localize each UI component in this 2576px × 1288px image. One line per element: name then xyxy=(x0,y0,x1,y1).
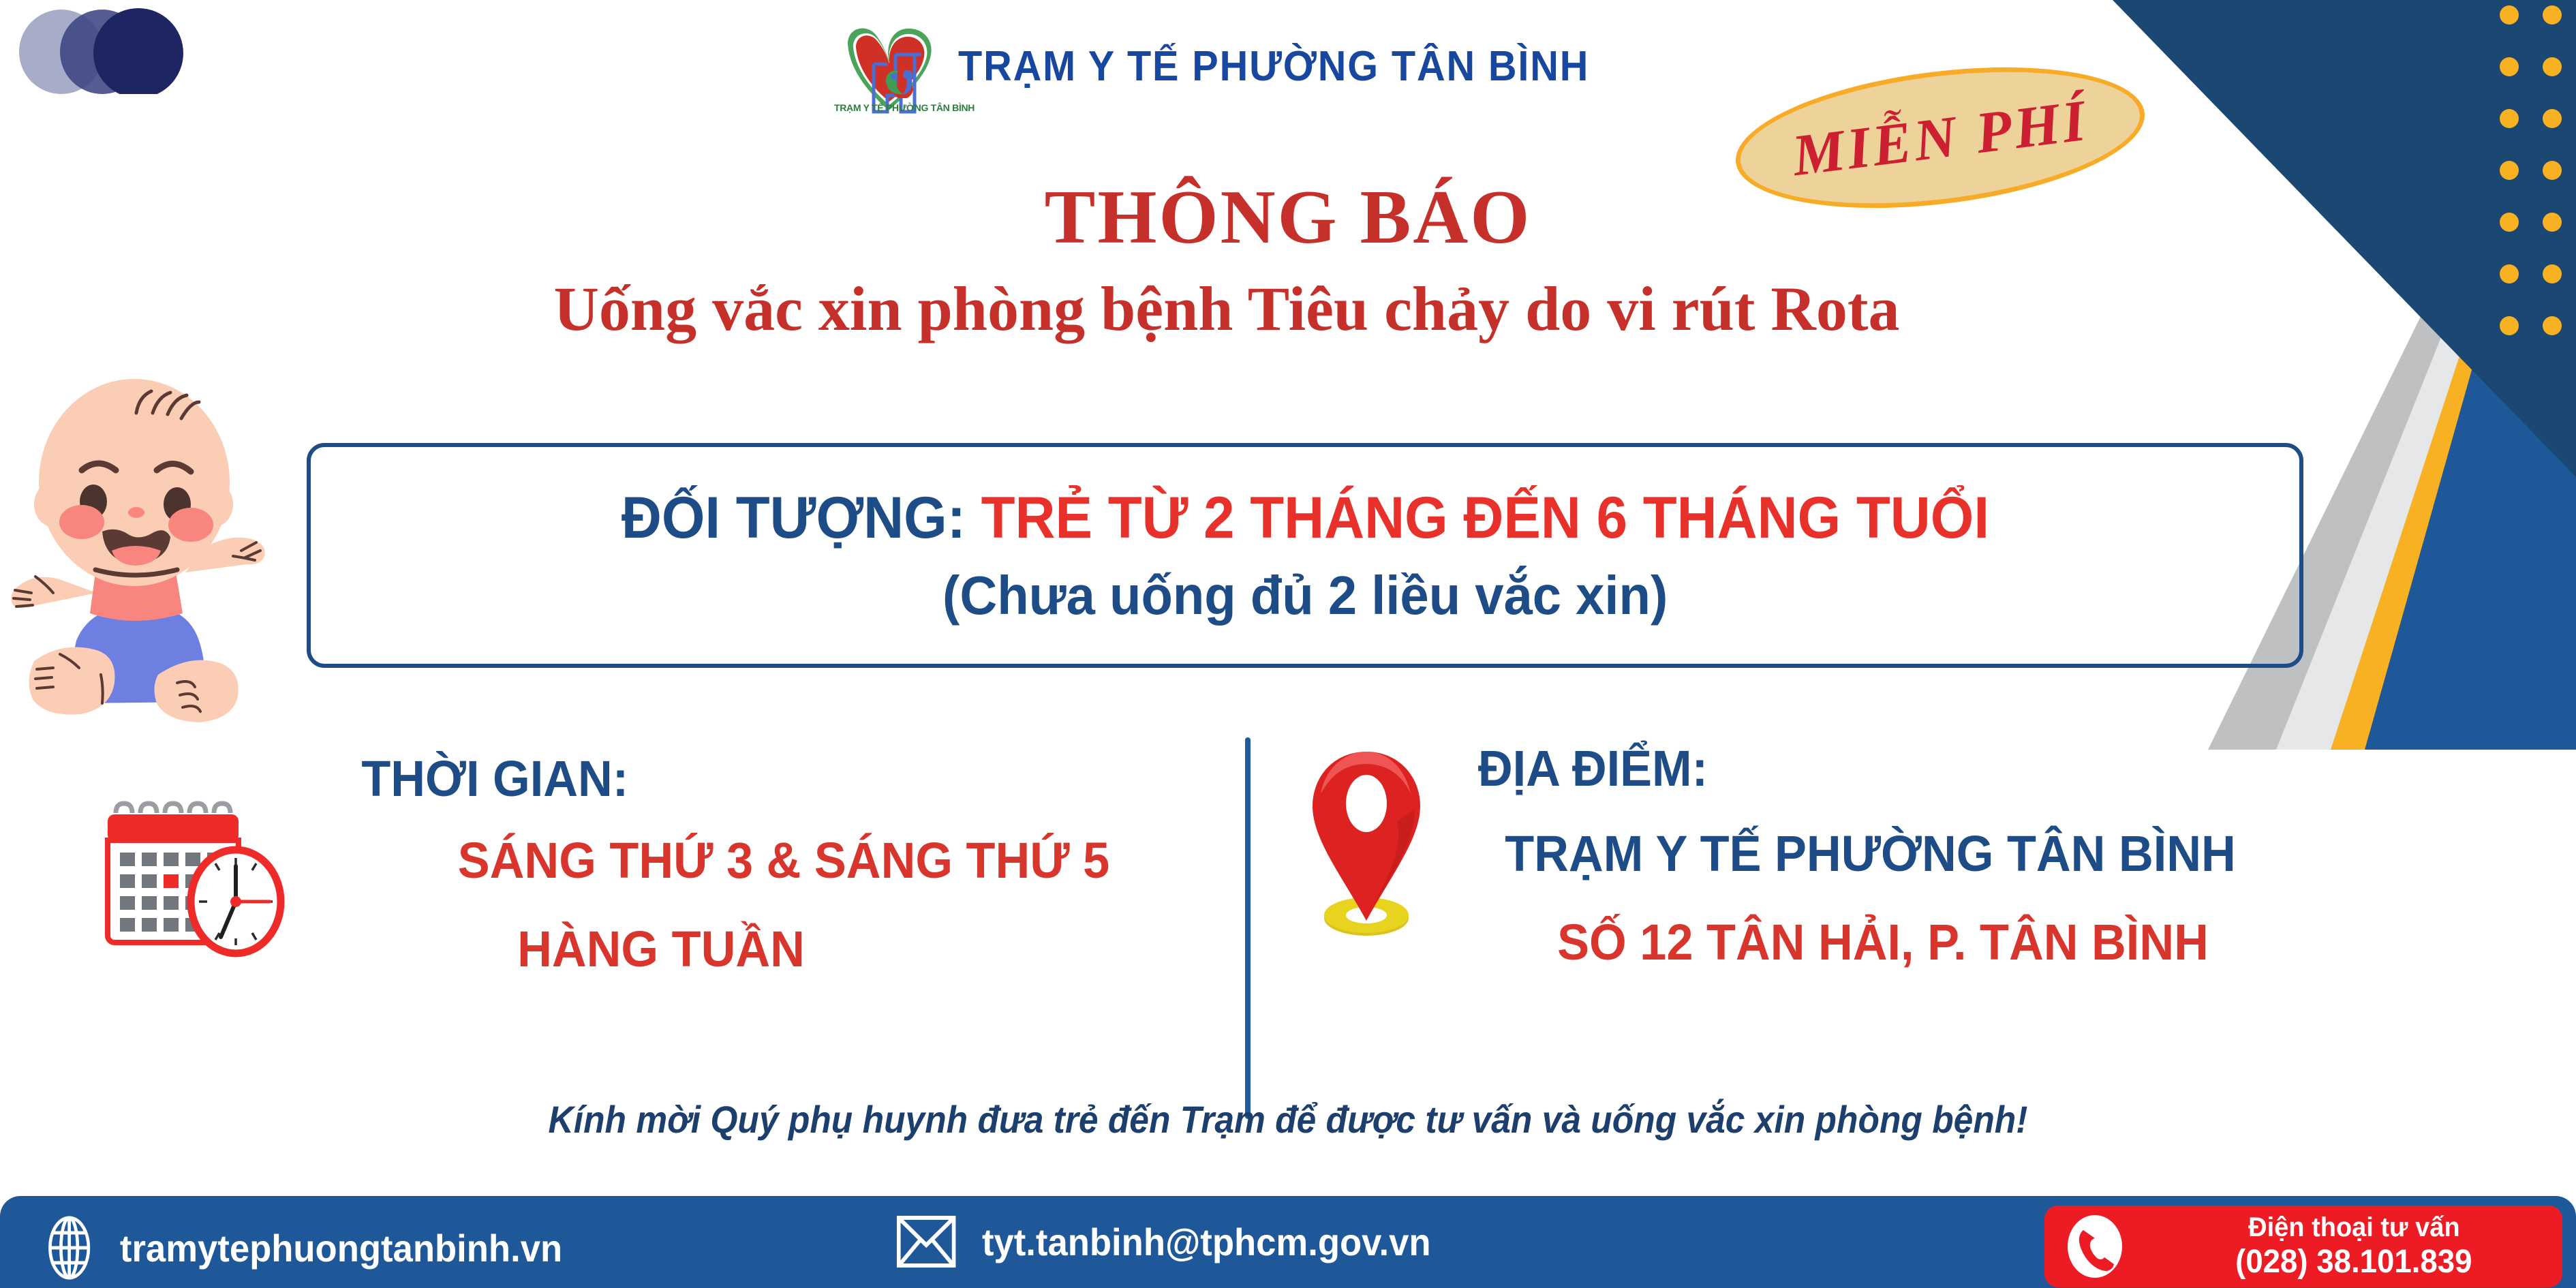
invitation-text: Kính mời Quý phụ huynh đưa trẻ đến Trạm … xyxy=(103,1097,2473,1141)
target-label: ĐỐI TƯỢNG: xyxy=(621,485,965,551)
target-value: TRẺ TỪ 2 THÁNG ĐẾN 6 THÁNG TUỔI xyxy=(981,485,1989,551)
column-divider xyxy=(1245,737,1251,1119)
time-value-line1: SÁNG THỨ 3 & SÁNG THỨ 5 xyxy=(376,831,1192,889)
overlapping-circles xyxy=(7,5,198,94)
target-audience-box: ĐỐI TƯỢNG: TRẺ TỪ 2 THÁNG ĐẾN 6 THÁNG TU… xyxy=(307,443,2303,668)
page-title: THÔNG BÁO xyxy=(0,174,2576,262)
footer-email[interactable]: tyt.tanbinh@tphcm.gov.vn xyxy=(896,1215,1431,1268)
phone-handset-icon xyxy=(2065,1212,2126,1281)
sitting-baby-illustration xyxy=(0,368,281,750)
health-station-heart-logo: TRẠM Y TẾ PHƯỜNG TÂN BÌNH xyxy=(838,15,940,117)
website-text: tramytephuongtanbinh.vn xyxy=(120,1226,562,1270)
logo-caption: TRẠM Y TẾ PHƯỜNG TÂN BÌNH xyxy=(834,102,950,113)
place-label: ĐỊA ĐIỂM: xyxy=(1478,739,1708,797)
target-line: ĐỐI TƯỢNG: TRẺ TỪ 2 THÁNG ĐẾN 6 THÁNG TU… xyxy=(621,485,1989,552)
time-value-line2: HÀNG TUẦN xyxy=(370,920,953,978)
calendar-clock-icon xyxy=(95,801,293,957)
footer-bar: tramytephuongtanbinh.vn tyt.tanbinh@tphc… xyxy=(0,1196,2576,1288)
footer-website[interactable]: tramytephuongtanbinh.vn xyxy=(44,1215,562,1281)
organization-name: TRẠM Y TẾ PHƯỜNG TÂN BÌNH xyxy=(958,42,1589,91)
globe-icon xyxy=(44,1215,94,1281)
poster-canvas: TRẠM Y TẾ PHƯỜNG TÂN BÌNH TRẠM Y TẾ PHƯỜ… xyxy=(0,0,2576,1288)
page-subtitle: Uống vắc xin phòng bệnh Tiêu chảy do vi … xyxy=(82,273,2372,345)
place-value-line1: TRẠM Y TẾ PHƯỜNG TÂN BÌNH xyxy=(1505,825,2236,883)
target-note: (Chưa uống đủ 2 liều vắc xin) xyxy=(942,564,1668,627)
phone-texts: Điện thoại tư vấn (028) 38.101.839 xyxy=(2145,1212,2562,1281)
header: TRẠM Y TẾ PHƯỜNG TÂN BÌNH TRẠM Y TẾ PHƯỜ… xyxy=(838,15,1637,117)
envelope-icon xyxy=(896,1215,956,1268)
phone-label: Điện thoại tư vấn xyxy=(2248,1212,2459,1243)
time-label: THỜI GIAN: xyxy=(361,750,628,808)
phone-number: (028) 38.101.839 xyxy=(2235,1243,2472,1281)
place-value-line2: SỐ 12 TÂN HẢI, P. TÂN BÌNH xyxy=(1557,913,2209,971)
map-pin-icon xyxy=(1302,746,1431,944)
phone-consult-block[interactable]: Điện thoại tư vấn (028) 38.101.839 xyxy=(2044,1206,2562,1287)
email-text: tyt.tanbinh@tphcm.gov.vn xyxy=(982,1220,1431,1264)
